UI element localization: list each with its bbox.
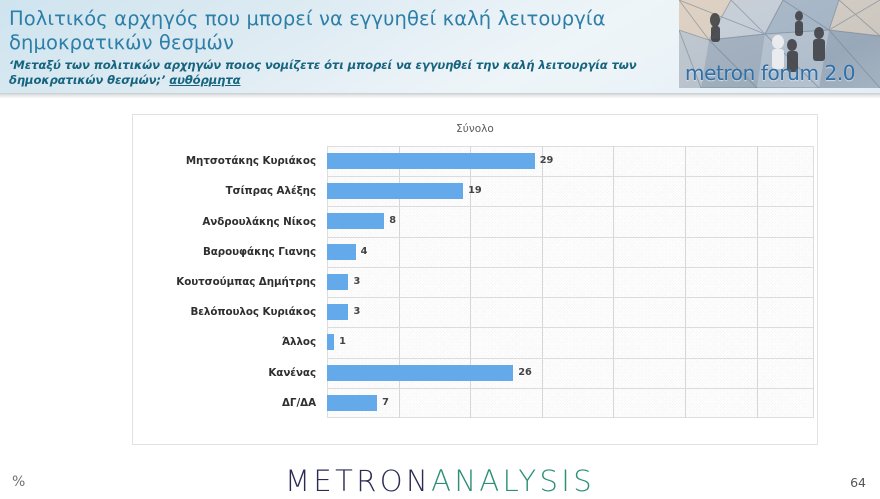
bar-row[interactable]: 4	[327, 237, 814, 267]
bar-row[interactable]: 19	[327, 176, 814, 206]
chart-title: Σύνολο	[133, 123, 817, 135]
bar[interactable]	[327, 274, 348, 290]
logo-metron-text: METRON	[285, 464, 431, 498]
slide-header: Πολιτικός αρχηγός που μπορεί να εγγυηθεί…	[0, 0, 880, 93]
page-subtitle-line2: δημοκρατικών θεσμών;’	[9, 73, 169, 87]
bar-value-label: 3	[353, 304, 360, 320]
bar[interactable]	[327, 153, 535, 169]
bar[interactable]	[327, 244, 356, 260]
bar-value-label: 29	[540, 153, 554, 169]
page-subtitle-line1: ‘Μεταξύ των πολιτικών αρχηγών ποιος νομί…	[9, 58, 637, 72]
header-divider	[0, 93, 880, 98]
chart-panel: Σύνολο Μητσοτάκης ΚυριάκοςΤσίπρας Αλέξης…	[132, 114, 818, 445]
bar-row[interactable]: 1	[327, 327, 814, 357]
bar[interactable]	[327, 365, 513, 381]
metron-forum-banner-image: metron forum 2.0	[679, 0, 880, 88]
bar-row[interactable]: 3	[327, 267, 814, 297]
metron-analysis-logo: METRONANALYSIS	[0, 464, 880, 498]
category-axis-labels: Μητσοτάκης ΚυριάκοςΤσίπρας ΑλέξηςΑνδρουλ…	[133, 146, 324, 418]
category-label: Άλλος	[282, 335, 316, 349]
category-label: Βελόπουλος Κυριάκος	[190, 305, 316, 319]
bar[interactable]	[327, 213, 384, 229]
category-label: ΔΓ/ΔΑ	[282, 396, 316, 410]
page-title-line1: Πολιτικός αρχηγός που μπορεί να εγγυηθεί…	[9, 7, 669, 31]
logo-analysis-text: ANALYSIS	[431, 464, 595, 498]
bar-value-label: 19	[468, 183, 482, 199]
bar-value-label: 4	[361, 244, 368, 260]
page-title-line2: δημοκρατικών θεσμών	[9, 31, 669, 55]
category-label: Τσίπρας Αλέξης	[226, 184, 316, 198]
bar[interactable]	[327, 395, 377, 411]
category-label: Κουτσούμπας Δημήτρης	[176, 275, 316, 289]
header-text-block: Πολιτικός αρχηγός που μπορεί να εγγυηθεί…	[9, 7, 669, 88]
bar-row[interactable]: 3	[327, 297, 814, 327]
bar-value-label: 3	[353, 274, 360, 290]
bar-row[interactable]: 29	[327, 146, 814, 176]
plot-area: 291984331267	[327, 146, 814, 418]
bar-value-label: 26	[518, 365, 532, 381]
bar-value-label: 1	[339, 334, 346, 350]
metron-forum-wordmark: metron forum 2.0	[685, 61, 855, 85]
bar[interactable]	[327, 183, 463, 199]
bar-value-label: 8	[389, 213, 396, 229]
category-label: Κανένας	[268, 366, 316, 380]
page-number: 64	[850, 475, 866, 490]
bar-row[interactable]: 7	[327, 388, 814, 418]
bar[interactable]	[327, 304, 348, 320]
bar[interactable]	[327, 334, 334, 350]
category-label: Ανδρουλάκης Νίκος	[202, 215, 316, 229]
bar-row[interactable]: 26	[327, 358, 814, 388]
category-label: Βαρουφάκης Γιανης	[203, 245, 316, 259]
spontaneous-link[interactable]: αυθόρμητα	[169, 73, 240, 87]
bar-row[interactable]: 8	[327, 206, 814, 236]
page-subtitle: ‘Μεταξύ των πολιτικών αρχηγών ποιος νομί…	[9, 58, 669, 88]
bar-value-label: 7	[382, 395, 389, 411]
category-label: Μητσοτάκης Κυριάκος	[186, 154, 316, 168]
